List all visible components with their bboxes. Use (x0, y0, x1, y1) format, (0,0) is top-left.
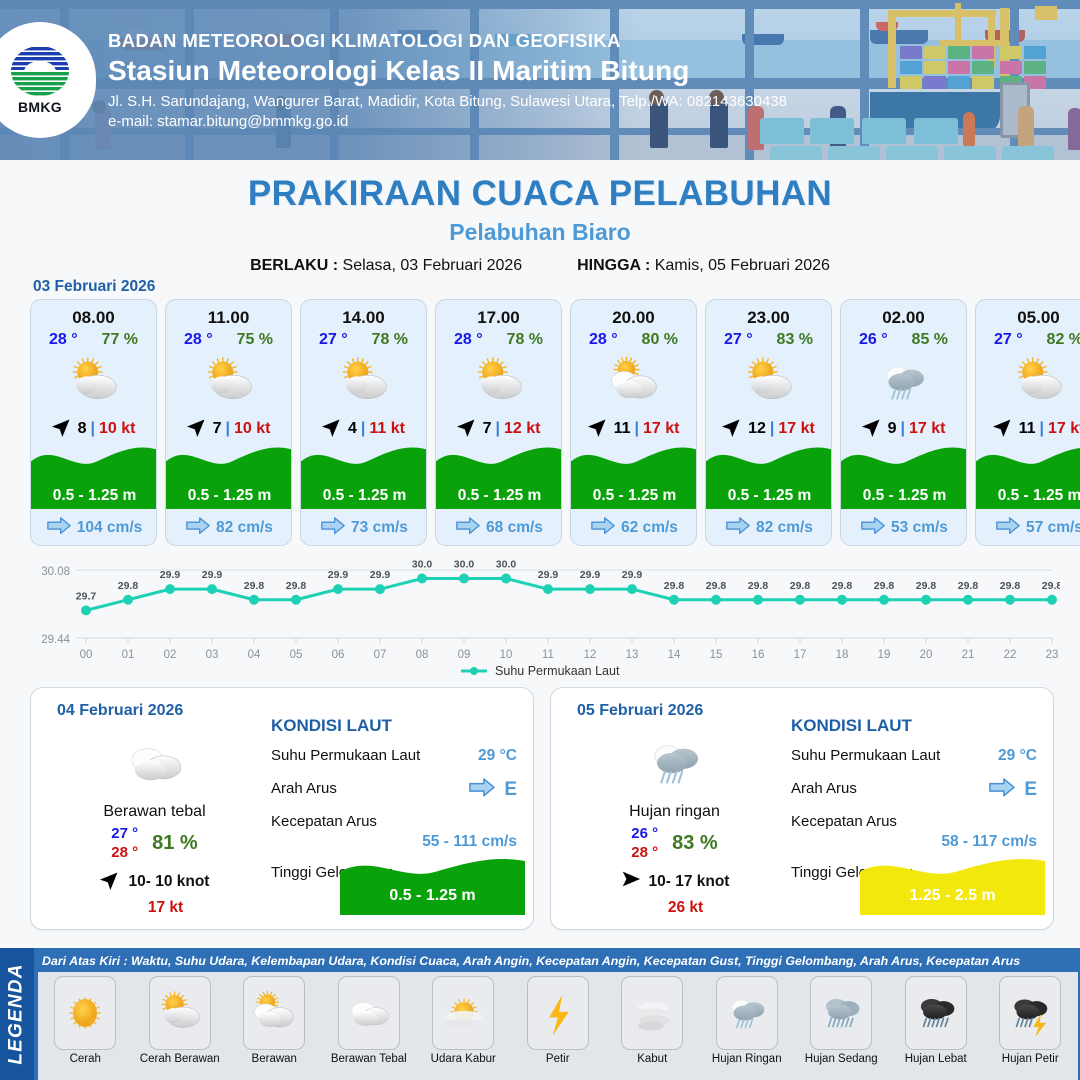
svg-text:30.08: 30.08 (41, 566, 70, 578)
panel-wave-height: 0.5 - 1.25 m (340, 887, 525, 905)
card-time: 11.00 (208, 308, 250, 328)
legend-label: Suhu Permukaan Laut (495, 664, 619, 678)
svg-text:11: 11 (542, 649, 554, 661)
card-temperature: 27 ° (319, 331, 348, 349)
card-current-speed: 73 cm/s (351, 519, 408, 537)
hourly-forecast-cards: 08.00 28 ° 77 % 8 | 10 kt 0.5 - 1.25 m 1… (30, 299, 1080, 546)
svg-text:29.9: 29.9 (580, 569, 601, 581)
sea-row-value: 58 - 117 cm/s (941, 833, 1037, 851)
card-wave-height: 0.5 - 1.25 m (841, 487, 967, 505)
svg-text:20: 20 (920, 649, 933, 661)
svg-text:14: 14 (668, 649, 681, 661)
card-gust: 17 kt (1048, 420, 1080, 438)
weather-icon-cerah-berawan (301, 351, 426, 413)
validity-line: BERLAKU : Selasa, 03 Februari 2026 HINGG… (0, 257, 1080, 275)
daily-forecast-panel: 05 Februari 2026 Hujan ringan 26 ° 28 ° … (550, 687, 1054, 930)
card-gust: 17 kt (643, 420, 679, 438)
svg-text:29.9: 29.9 (160, 569, 181, 581)
svg-text:09: 09 (458, 649, 471, 661)
card-current: 82 cm/s (706, 517, 832, 539)
daily-forecast-panels: 04 Februari 2026 Berawan tebal 27 ° 28 °… (30, 687, 1054, 930)
card-wind-speed: 9 (888, 420, 897, 438)
card-current-speed: 68 cm/s (486, 519, 543, 537)
current-direction-arrow-icon (726, 517, 750, 539)
legend-item-label: Hujan Lebat (889, 1053, 984, 1065)
weather-icon-berawan (571, 351, 696, 413)
card-humidity: 77 % (102, 331, 138, 349)
svg-text:29.8: 29.8 (916, 580, 937, 592)
card-time: 08.00 (72, 308, 115, 328)
sea-row-value: 29 °C (998, 747, 1037, 765)
card-temperature: 28 ° (589, 331, 618, 349)
card-temperature: 28 ° (184, 331, 213, 349)
hourly-card: 02.00 26 ° 85 % 9 | 17 kt 0.5 - 1.25 m (840, 299, 967, 546)
sea-row-label: Kecepatan Arus (271, 813, 377, 830)
card-gust: 12 kt (504, 420, 540, 438)
weather-icon-kabut (621, 976, 683, 1050)
panel-wave-band (860, 853, 1045, 915)
svg-text:29.8: 29.8 (244, 580, 265, 592)
legend-note: Dari Atas Kiri : Waktu, Suhu Udara, Kele… (42, 954, 1080, 968)
wind-direction-arrow-icon (722, 415, 744, 442)
weather-icon-berawan-tebal (47, 730, 262, 796)
card-current-speed: 104 cm/s (77, 519, 143, 537)
card-separator: | (634, 420, 638, 438)
sea-row-value: 29 °C (478, 747, 517, 765)
legend-item-label: Cerah (38, 1053, 133, 1065)
current-direction-arrow-icon (996, 517, 1020, 539)
panel-temp-max: 28 ° (631, 844, 658, 861)
legend-item: Udara Kabur (416, 976, 511, 1065)
card-current-speed: 57 cm/s (1026, 519, 1080, 537)
card-current: 57 cm/s (976, 517, 1080, 539)
card-separator: | (770, 420, 774, 438)
svg-text:29.9: 29.9 (622, 569, 643, 581)
legend-item-label: Petir (511, 1053, 606, 1065)
sst-chart: 30.0829.4429.70029.80129.90229.90329.804… (22, 556, 1060, 676)
legend-item-label: Hujan Sedang (794, 1053, 889, 1065)
card-current: 68 cm/s (436, 517, 562, 539)
card-separator: | (361, 420, 365, 438)
card-separator: | (1039, 420, 1043, 438)
panel-wave-band (340, 853, 525, 915)
card-humidity: 78 % (372, 331, 408, 349)
wind-direction-arrow-icon (322, 415, 344, 442)
valid-until-label: HINGGA : (577, 257, 650, 274)
weather-icon-hujan-petir (999, 976, 1061, 1050)
legend-item: Cerah Berawan (133, 976, 228, 1065)
panel-humidity: 81 % (152, 832, 198, 855)
card-time: 17.00 (477, 308, 520, 328)
card-current-speed: 82 cm/s (756, 519, 813, 537)
sea-row: Arah Arus E (271, 780, 521, 802)
svg-text:04: 04 (248, 649, 261, 661)
panel-temp-min: 26 ° (631, 825, 658, 842)
legend-footer: LEGENDA Dari Atas Kiri : Waktu, Suhu Uda… (0, 948, 1080, 1080)
valid-from-value: Selasa, 03 Februari 2026 (343, 257, 523, 274)
station-address: Jl. S.H. Sarundajang, Wangurer Barat, Ma… (108, 93, 787, 110)
hourly-card: 08.00 28 ° 77 % 8 | 10 kt 0.5 - 1.25 m 1… (30, 299, 157, 546)
svg-text:01: 01 (122, 649, 135, 661)
card-humidity: 85 % (912, 331, 948, 349)
card-humidity: 83 % (777, 331, 813, 349)
svg-text:29.8: 29.8 (664, 580, 685, 592)
wind-direction-arrow-icon (588, 415, 610, 442)
svg-text:03: 03 (206, 649, 219, 661)
weather-icon-hujan-sedang (810, 976, 872, 1050)
svg-text:12: 12 (584, 649, 597, 661)
station-email: e-mail: stamar.bitung@bmmkg.go.id (108, 113, 787, 130)
card-current: 82 cm/s (166, 517, 292, 539)
card-gust: 17 kt (909, 420, 945, 438)
svg-text:22: 22 (1004, 649, 1017, 661)
weather-icon-hujan-ringan (716, 976, 778, 1050)
svg-text:17: 17 (794, 649, 807, 661)
card-wind-speed: 12 (748, 420, 766, 438)
card-temperature: 28 ° (49, 331, 78, 349)
legend-item: Hujan Lebat (889, 976, 984, 1065)
legend-side-label: LEGENDA (0, 948, 34, 1080)
svg-text:29.9: 29.9 (370, 569, 391, 581)
card-temperature: 28 ° (454, 331, 483, 349)
hourly-card: 14.00 27 ° 78 % 4 | 11 kt 0.5 - 1.25 m 7… (300, 299, 427, 546)
svg-text:29.8: 29.8 (958, 580, 979, 592)
current-direction-arrow-icon (591, 517, 615, 539)
svg-text:02: 02 (164, 649, 177, 661)
card-wind-speed: 7 (483, 420, 492, 438)
sea-row-label: Suhu Permukaan Laut (271, 747, 420, 764)
svg-text:05: 05 (290, 649, 303, 661)
card-separator: | (90, 420, 94, 438)
weather-icon-cerah-berawan (166, 351, 291, 413)
card-gust: 11 kt (369, 420, 405, 438)
panel-gust: 17 kt (69, 899, 262, 917)
page-subtitle: Pelabuhan Biaro (0, 219, 1080, 246)
legend-item: Hujan Petir (983, 976, 1078, 1065)
card-wave-height: 0.5 - 1.25 m (571, 487, 697, 505)
panel-date: 05 Februari 2026 (577, 702, 703, 720)
title-block: PRAKIRAAN CUACA PELABUHAN Pelabuhan Biar… (0, 160, 1080, 275)
weather-icon-hujan-ringan (567, 730, 782, 796)
wind-direction-arrow-icon (187, 415, 209, 442)
current-direction-arrow-icon (469, 778, 495, 802)
sea-row-label: Kecepatan Arus (791, 813, 897, 830)
page-header: BMKG BADAN METEOROLOGI KLIMATOLOGI DAN G… (0, 0, 1080, 160)
legend-item: Hujan Sedang (794, 976, 889, 1065)
station-name: Stasiun Meteorologi Kelas II Maritim Bit… (108, 55, 787, 87)
panel-wind: 10- 17 knot (649, 873, 730, 891)
card-humidity: 80 % (642, 331, 678, 349)
sea-row-value: E (1024, 779, 1037, 801)
svg-text:30.0: 30.0 (454, 559, 475, 571)
svg-text:29.7: 29.7 (76, 590, 97, 602)
weather-icon-hujan-ringan (841, 351, 966, 413)
svg-text:29.8: 29.8 (748, 580, 769, 592)
svg-text:21: 21 (962, 649, 975, 661)
valid-until-value: Kamis, 05 Februari 2026 (655, 257, 830, 274)
card-wave-height: 0.5 - 1.25 m (976, 487, 1080, 505)
svg-text:00: 00 (80, 649, 93, 661)
legend-item: Berawan (227, 976, 322, 1065)
valid-from-label: BERLAKU : (250, 257, 338, 274)
card-wave-height: 0.5 - 1.25 m (706, 487, 832, 505)
hourly-card: 05.00 27 ° 82 % 11 | 17 kt 0.5 - 1.25 m … (975, 299, 1080, 546)
panel-date: 04 Februari 2026 (57, 702, 183, 720)
card-current: 53 cm/s (841, 517, 967, 539)
current-direction-arrow-icon (47, 517, 71, 539)
card-wave-height: 0.5 - 1.25 m (166, 487, 292, 505)
svg-text:15: 15 (710, 649, 723, 661)
legend-item: Petir (511, 976, 606, 1065)
wind-direction-arrow-icon (993, 415, 1015, 442)
card-separator: | (900, 420, 904, 438)
hourly-card: 11.00 28 ° 75 % 7 | 10 kt 0.5 - 1.25 m 8… (165, 299, 292, 546)
weather-icon-cerah-berawan (976, 351, 1080, 413)
svg-text:18: 18 (836, 649, 849, 661)
panel-wind: 10- 10 knot (129, 873, 210, 891)
panel-temp-min: 27 ° (111, 825, 138, 842)
card-wave-height: 0.5 - 1.25 m (31, 487, 157, 505)
svg-text:29.8: 29.8 (874, 580, 895, 592)
svg-text:30.0: 30.0 (496, 559, 517, 571)
current-direction-arrow-icon (861, 517, 885, 539)
weather-icon-cerah-berawan (149, 976, 211, 1050)
card-current: 73 cm/s (301, 517, 427, 539)
weather-icon-berawan-tebal (338, 976, 400, 1050)
svg-text:29.44: 29.44 (41, 634, 70, 646)
sea-row: Kecepatan Arus 55 - 111 cm/s (271, 813, 521, 853)
card-current-speed: 82 cm/s (216, 519, 273, 537)
legend-item-label: Udara Kabur (416, 1053, 511, 1065)
hourly-card: 20.00 28 ° 80 % 11 | 17 kt 0.5 - 1.25 m (570, 299, 697, 546)
card-separator: | (225, 420, 229, 438)
current-direction-arrow-icon (456, 517, 480, 539)
card-humidity: 75 % (237, 331, 273, 349)
svg-text:29.8: 29.8 (1000, 580, 1021, 592)
hourly-date-label: 03 Februari 2026 (33, 278, 155, 296)
legend-item-label: Hujan Petir (983, 1053, 1078, 1065)
card-gust: 17 kt (778, 420, 814, 438)
weather-icon-cerah-berawan (31, 351, 156, 413)
legend-item: Kabut (605, 976, 700, 1065)
card-current: 104 cm/s (31, 517, 157, 539)
card-time: 05.00 (1017, 308, 1060, 328)
card-temperature: 26 ° (859, 331, 888, 349)
svg-text:19: 19 (878, 649, 891, 661)
daily-forecast-panel: 04 Februari 2026 Berawan tebal 27 ° 28 °… (30, 687, 534, 930)
sea-row-value: E (504, 779, 517, 801)
weather-icon-berawan (243, 976, 305, 1050)
wind-direction-arrow-icon (862, 415, 884, 442)
bmkg-logo-text: BMKG (18, 99, 62, 115)
weather-icon-cerah (54, 976, 116, 1050)
weather-icon-cerah-berawan (436, 351, 561, 413)
panel-temp-max: 28 ° (111, 844, 138, 861)
wind-direction-arrow-icon (620, 868, 642, 895)
legend-item: Hujan Ringan (700, 976, 795, 1065)
sea-row-label: Arah Arus (791, 780, 857, 797)
card-wind-speed: 11 (614, 420, 631, 438)
sea-row-value: 55 - 111 cm/s (422, 833, 517, 851)
current-direction-arrow-icon (186, 517, 210, 539)
panel-wave-height: 1.25 - 2.5 m (860, 887, 1045, 905)
legend-item-label: Kabut (605, 1053, 700, 1065)
card-current: 62 cm/s (571, 517, 697, 539)
sea-condition-heading: KONDISI LAUT (791, 716, 1041, 736)
sea-row-label: Arah Arus (271, 780, 337, 797)
sea-row: Suhu Permukaan Laut 29 °C (791, 747, 1041, 769)
card-current-speed: 62 cm/s (621, 519, 678, 537)
card-wave-height: 0.5 - 1.25 m (436, 487, 562, 505)
wind-direction-arrow-icon (457, 415, 479, 442)
legend-item: Cerah (38, 976, 133, 1065)
card-current-speed: 53 cm/s (891, 519, 948, 537)
legend-item-label: Hujan Ringan (700, 1053, 795, 1065)
svg-text:23: 23 (1046, 649, 1059, 661)
panel-condition: Berawan tebal (47, 803, 262, 821)
sea-row: Arah Arus E (791, 780, 1041, 802)
panel-humidity: 83 % (672, 832, 718, 855)
page-title: PRAKIRAAN CUACA PELABUHAN (0, 174, 1080, 214)
sea-row: Kecepatan Arus 58 - 117 cm/s (791, 813, 1041, 853)
svg-text:29.8: 29.8 (118, 580, 139, 592)
sea-condition-heading: KONDISI LAUT (271, 716, 521, 736)
panel-condition: Hujan ringan (567, 803, 782, 821)
card-wind-speed: 11 (1019, 420, 1036, 438)
hourly-card: 23.00 27 ° 83 % 12 | 17 kt 0.5 - 1.25 m … (705, 299, 832, 546)
svg-text:29.8: 29.8 (706, 580, 727, 592)
hourly-card: 17.00 28 ° 78 % 7 | 12 kt 0.5 - 1.25 m 6… (435, 299, 562, 546)
wind-direction-arrow-icon (52, 415, 74, 442)
svg-text:10: 10 (500, 649, 513, 661)
card-time: 02.00 (882, 308, 925, 328)
card-wind-speed: 7 (213, 420, 222, 438)
card-humidity: 82 % (1047, 331, 1080, 349)
weather-icon-hujan-lebat (905, 976, 967, 1050)
legend-item-label: Berawan (227, 1053, 322, 1065)
sea-row-label: Suhu Permukaan Laut (791, 747, 940, 764)
svg-text:06: 06 (332, 649, 345, 661)
bmkg-logo-icon (9, 45, 71, 97)
card-temperature: 27 ° (994, 331, 1023, 349)
svg-text:30.0: 30.0 (412, 559, 433, 571)
legend-item-label: Cerah Berawan (133, 1053, 228, 1065)
svg-text:29.8: 29.8 (832, 580, 853, 592)
svg-text:29.9: 29.9 (328, 569, 349, 581)
card-humidity: 78 % (507, 331, 543, 349)
card-gust: 10 kt (234, 420, 270, 438)
svg-text:29.8: 29.8 (1042, 580, 1060, 592)
legend-swatch (461, 665, 487, 679)
agency-name: BADAN METEOROLOGI KLIMATOLOGI DAN GEOFIS… (108, 30, 787, 52)
sea-row: Suhu Permukaan Laut 29 °C (271, 747, 521, 769)
weather-icon-udara-kabur (432, 976, 494, 1050)
card-temperature: 27 ° (724, 331, 753, 349)
wind-direction-arrow-icon (100, 868, 122, 895)
legend-body: Dari Atas Kiri : Waktu, Suhu Udara, Kele… (34, 948, 1080, 1080)
svg-text:29.9: 29.9 (202, 569, 223, 581)
svg-text:07: 07 (374, 649, 387, 661)
legend-icon-list: Cerah Cerah Berawan Berawan (38, 972, 1078, 1080)
panel-gust: 26 kt (589, 899, 782, 917)
svg-text:29.9: 29.9 (538, 569, 559, 581)
card-wave-height: 0.5 - 1.25 m (301, 487, 427, 505)
chart-legend: Suhu Permukaan Laut (0, 664, 1080, 679)
card-time: 20.00 (612, 308, 655, 328)
svg-text:29.8: 29.8 (286, 580, 307, 592)
card-gust: 10 kt (99, 420, 135, 438)
card-wind-speed: 8 (78, 420, 87, 438)
svg-text:16: 16 (752, 649, 765, 661)
card-time: 23.00 (747, 308, 790, 328)
card-time: 14.00 (342, 308, 385, 328)
current-direction-arrow-icon (989, 778, 1015, 802)
legend-item: Berawan Tebal (322, 976, 417, 1065)
card-separator: | (495, 420, 499, 438)
current-direction-arrow-icon (321, 517, 345, 539)
svg-text:08: 08 (416, 649, 429, 661)
weather-icon-cerah-berawan (706, 351, 831, 413)
card-wind-speed: 4 (348, 420, 357, 438)
weather-icon-petir (527, 976, 589, 1050)
svg-text:29.8: 29.8 (790, 580, 811, 592)
svg-text:13: 13 (626, 649, 639, 661)
legend-item-label: Berawan Tebal (322, 1053, 417, 1065)
